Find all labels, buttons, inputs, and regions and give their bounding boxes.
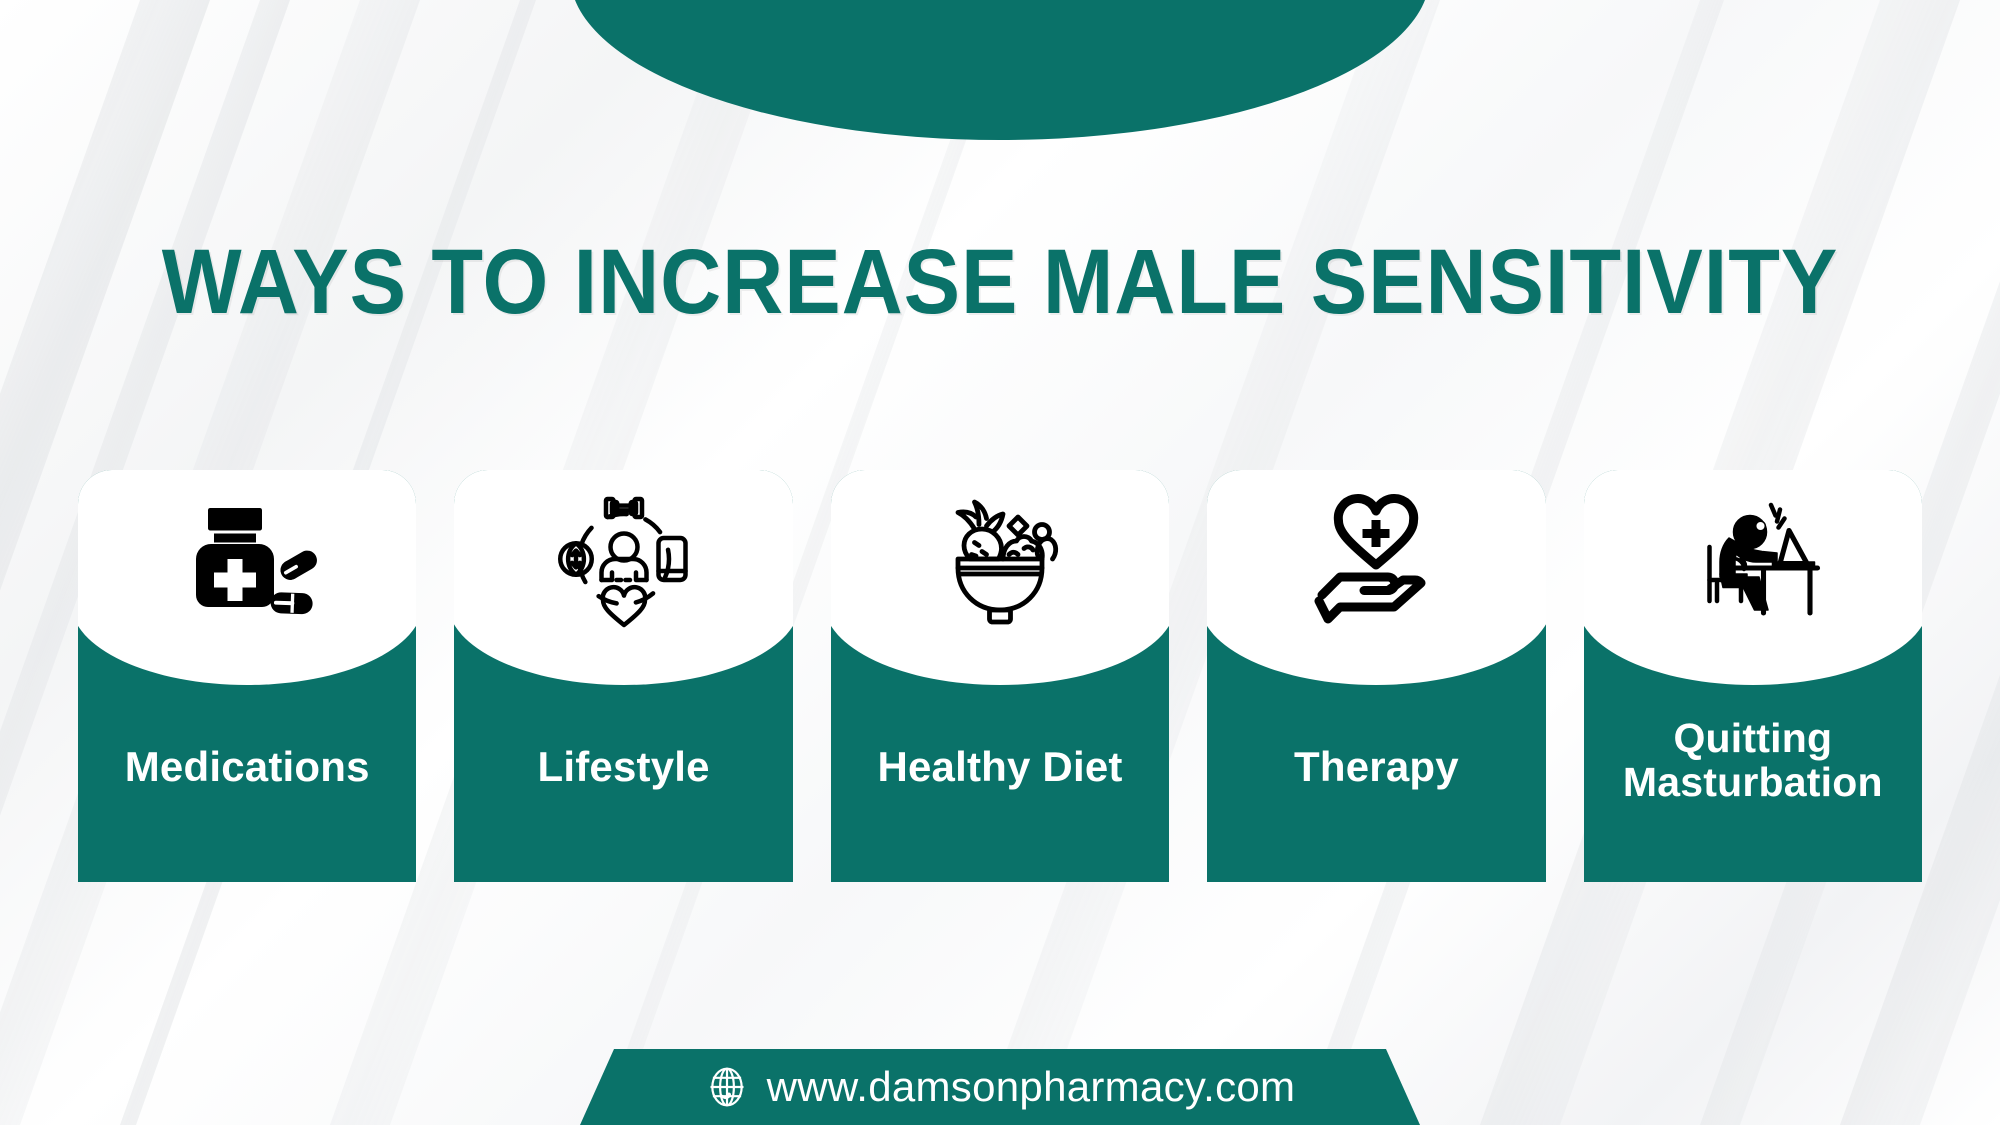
hand-heart-cross-icon xyxy=(1301,484,1451,634)
card-quitting-masturbation[interactable]: Quitting Masturbation xyxy=(1584,470,1922,882)
card-row: Medications xyxy=(78,470,1922,882)
card-label: Lifestyle xyxy=(454,745,792,882)
pill-bottle-icon xyxy=(172,484,322,634)
website-url: www.damsonpharmacy.com xyxy=(767,1063,1296,1111)
card-medications[interactable]: Medications xyxy=(78,470,416,882)
card-label: Medications xyxy=(78,745,416,882)
lifestyle-wheel-icon xyxy=(549,484,699,634)
card-therapy[interactable]: Therapy xyxy=(1207,470,1545,882)
card-lifestyle[interactable]: Lifestyle xyxy=(454,470,792,882)
card-healthy-diet[interactable]: Healthy Diet xyxy=(831,470,1169,882)
card-label: Therapy xyxy=(1207,745,1545,882)
footer-banner[interactable]: www.damsonpharmacy.com xyxy=(580,1049,1420,1125)
page-title: WAYS TO INCREASE MALE SENSITIVITY xyxy=(80,236,1920,328)
salad-bowl-icon xyxy=(925,484,1075,634)
tired-person-laptop-icon xyxy=(1678,484,1828,634)
card-label: Healthy Diet xyxy=(831,745,1169,882)
infographic-canvas: WAYS TO INCREASE MALE SENSITIVITY xyxy=(0,0,2000,1125)
globe-icon xyxy=(705,1065,749,1109)
card-label: Quitting Masturbation xyxy=(1584,717,1922,882)
